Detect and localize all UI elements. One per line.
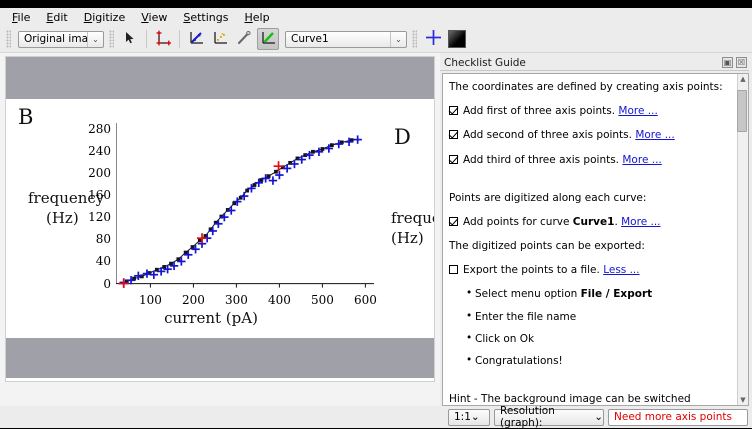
- list-item: Congratulations!: [475, 354, 731, 368]
- y-axis-tick-label: 200: [88, 166, 111, 180]
- image-canvas-pane[interactable]: B D frequency (Hz) freque (Hz) current (…: [0, 53, 440, 406]
- y-axis-tick-label: 280: [88, 122, 111, 136]
- checklist-intro-points: Points are digitized along each curve:: [449, 191, 731, 205]
- scrollbar-thumb[interactable]: [737, 90, 747, 132]
- float-icon[interactable]: ▣: [722, 57, 733, 68]
- menu-path: File / Export: [581, 288, 653, 300]
- checklist-body: The coordinates are defined by creating …: [442, 73, 749, 406]
- close-icon[interactable]: ☒: [736, 57, 747, 68]
- curve-point-icon: [260, 30, 276, 49]
- menu-item-settings[interactable]: Settings: [175, 10, 236, 25]
- x-axis-title: current (pA): [164, 309, 258, 327]
- axis-point-icon: [155, 30, 171, 49]
- chevron-down-icon: ⌄: [471, 411, 480, 423]
- point-match-icon: [212, 30, 228, 49]
- y-axis-tick-label: 80: [96, 232, 111, 246]
- checklist-item-axis-2[interactable]: Add second of three axis points. More ..…: [449, 128, 731, 142]
- scroll-down-icon[interactable]: ▼: [740, 396, 745, 404]
- menu-bar: File Edit Digitize View Settings Help: [0, 8, 752, 26]
- checklist-item-text: Add first of three axis points. More ...: [463, 104, 658, 118]
- application-window: File Edit Digitize View Settings Help Or…: [0, 8, 752, 423]
- x-axis-tick-label: 200: [182, 293, 205, 307]
- chevron-down-icon: ⌄: [87, 32, 103, 47]
- main-area: B D frequency (Hz) freque (Hz) current (…: [0, 53, 752, 406]
- checklist-item-text: Export the points to a file. Less ...: [463, 263, 640, 277]
- select-tool-button[interactable]: [119, 28, 141, 50]
- checklist-item-curve[interactable]: Add points for curve Curve1. More ...: [449, 215, 731, 229]
- x-axis-tick-label: 100: [139, 293, 162, 307]
- toolbar-grip-1[interactable]: [6, 30, 11, 48]
- resolution-value: Resolution (graph):: [500, 405, 594, 429]
- checklist-item-text: Add points for curve Curve1. More ...: [463, 215, 661, 229]
- curve-select-combo[interactable]: Curve1 ⌄: [285, 31, 407, 48]
- image-gray-band-top: [6, 57, 434, 99]
- curve-select-value: Curve1: [291, 33, 390, 45]
- checklist-intro-axis: The coordinates are defined by creating …: [449, 80, 731, 94]
- checkbox-checked-icon[interactable]: [449, 217, 458, 226]
- menu-item-help[interactable]: Help: [236, 10, 277, 25]
- checklist-guide-dock: Checklist Guide ▣ ☒ The coordinates are …: [440, 53, 752, 406]
- cursor-arrow-icon: [123, 31, 137, 48]
- status-bar: 1:1 ⌄ Resolution (graph): ⌄ Need more ax…: [0, 406, 752, 428]
- background-image-combo[interactable]: Original image ⌄: [18, 31, 104, 48]
- right-panel-axis-title-line1: freque: [391, 209, 435, 227]
- y-axis-tick-label: 0: [103, 277, 111, 291]
- x-axis-tick-label: 500: [311, 293, 334, 307]
- y-axis-tick-label: 40: [96, 254, 111, 268]
- checklist-spacer: [449, 177, 731, 191]
- plot-area[interactable]: 04080120160200240280100200300400500600: [116, 123, 374, 288]
- checklist-item-axis-3[interactable]: Add third of three axis points. More ...: [449, 153, 731, 167]
- x-axis-tick-label: 600: [354, 293, 377, 307]
- menu-item-file[interactable]: File: [4, 10, 38, 25]
- more-link[interactable]: More ...: [621, 216, 660, 228]
- more-link[interactable]: More ...: [618, 105, 657, 117]
- zoom-value: 1:1: [454, 411, 471, 423]
- y-axis-title-line2: (Hz): [46, 209, 79, 227]
- curve-name: Curve1: [573, 216, 615, 228]
- toolbar-grip-3[interactable]: [412, 30, 417, 48]
- menu-item-view[interactable]: View: [133, 10, 175, 25]
- image-gray-band-bottom: [6, 338, 434, 378]
- export-steps-list: Select menu option File / Export Enter t…: [449, 287, 731, 368]
- checklist-item-axis-1[interactable]: Add first of three axis points. More ...: [449, 104, 731, 118]
- chevron-down-icon: ⌄: [594, 411, 603, 423]
- checklist-spacer-2: [449, 378, 731, 392]
- checkbox-checked-icon[interactable]: [449, 155, 458, 164]
- more-link[interactable]: More ...: [635, 129, 674, 141]
- blue-cross-icon: [425, 29, 442, 49]
- point-style-button[interactable]: [422, 28, 444, 50]
- checklist-hint: Hint - The background image can be switc…: [449, 392, 731, 405]
- toolbar-separator-1: [146, 30, 147, 48]
- chevron-down-icon: ⌄: [390, 32, 406, 47]
- checklist-content: The coordinates are defined by creating …: [443, 74, 737, 405]
- list-item: Click on Ok: [475, 332, 731, 346]
- menu-item-edit[interactable]: Edit: [38, 10, 75, 25]
- list-item: Select menu option File / Export: [475, 287, 731, 301]
- segment-fill-tool-button[interactable]: [185, 28, 207, 50]
- menu-item-digitize[interactable]: Digitize: [76, 10, 134, 25]
- panel-label-d: D: [394, 125, 411, 149]
- y-axis-tick-label: 240: [88, 144, 111, 158]
- more-link[interactable]: More ...: [622, 154, 661, 166]
- checkbox-unchecked-icon[interactable]: [449, 265, 458, 274]
- toolbar: Original image ⌄: [0, 26, 752, 53]
- checklist-item-text: Add second of three axis points. More ..…: [463, 128, 675, 142]
- checklist-intro-export: The digitized points can be exported:: [449, 239, 731, 253]
- point-match-tool-button[interactable]: [209, 28, 231, 50]
- checkbox-checked-icon[interactable]: [449, 130, 458, 139]
- checklist-title: Checklist Guide: [444, 57, 719, 69]
- checklist-title-bar: Checklist Guide ▣ ☒: [440, 55, 749, 71]
- eyedropper-icon: [236, 30, 252, 49]
- scroll-up-icon[interactable]: ▲: [740, 75, 745, 83]
- panel-label-b: B: [18, 105, 33, 129]
- checkbox-checked-icon[interactable]: [449, 106, 458, 115]
- right-panel-axis-title-line2: (Hz): [391, 229, 424, 247]
- segment-fill-icon: [188, 30, 204, 49]
- axis-point-tool-button[interactable]: [152, 28, 174, 50]
- x-axis-tick-label: 300: [225, 293, 248, 307]
- checklist-scrollbar[interactable]: ▲ ▼: [737, 74, 748, 405]
- color-swatch[interactable]: [448, 30, 466, 48]
- list-item: Enter the file name: [475, 310, 731, 324]
- checklist-item-export[interactable]: Export the points to a file. Less ...: [449, 263, 731, 277]
- background-image-value: Original image: [24, 33, 87, 45]
- y-axis-tick-label: 120: [88, 210, 111, 224]
- digitize-sheet[interactable]: B D frequency (Hz) freque (Hz) current (…: [5, 56, 435, 382]
- checklist-item-text: Add third of three axis points. More ...: [463, 153, 662, 167]
- y-axis-tick-label: 160: [88, 188, 111, 202]
- toolbar-grip-2[interactable]: [109, 30, 114, 48]
- less-link[interactable]: Less ...: [603, 264, 639, 276]
- color-picker-tool-button[interactable]: [233, 28, 255, 50]
- x-axis-tick-label: 400: [268, 293, 291, 307]
- plot-svg: [116, 123, 374, 288]
- curve-point-tool-button[interactable]: [257, 28, 279, 50]
- toolbar-separator-2: [179, 30, 180, 48]
